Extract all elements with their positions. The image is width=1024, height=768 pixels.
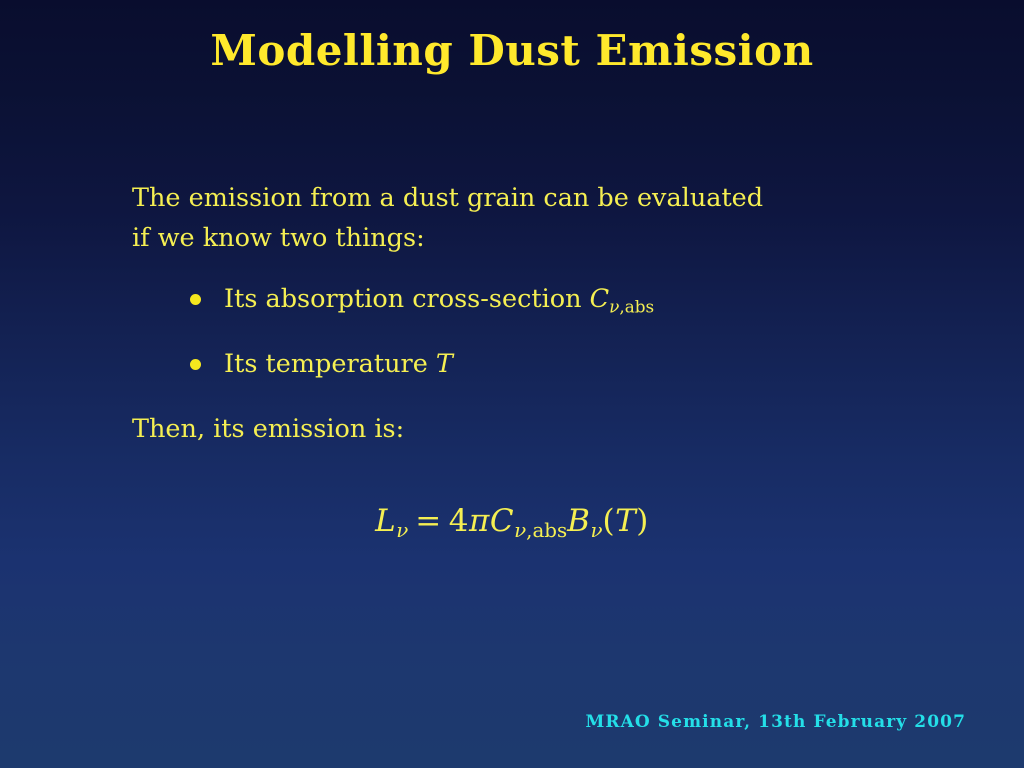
bullet-1-sub-roman: abs	[625, 296, 654, 316]
intro-line-2: if we know two things:	[132, 218, 922, 258]
eq-c-symbol: C	[490, 503, 514, 539]
list-item: Its absorption cross-section Cν,abs	[190, 284, 922, 321]
then-paragraph: Then, its emission is:	[132, 409, 922, 449]
presentation-slide: Modelling Dust Emission The emission fro…	[0, 0, 1024, 768]
intro-line-1: The emission from a dust grain can be ev…	[132, 178, 922, 218]
eq-lhs-sub: ν	[396, 519, 408, 542]
bullet-dot-icon	[190, 359, 201, 370]
bullet-list: Its absorption cross-section Cν,abs Its …	[132, 284, 922, 379]
bullet-2-symbol: T	[436, 349, 453, 379]
page-title: Modelling Dust Emission	[0, 28, 1024, 74]
eq-b-symbol: B	[567, 503, 590, 539]
bullet-1-sub-greek: ν	[609, 296, 619, 316]
bullet-2-text: Its temperature	[224, 349, 436, 379]
eq-equals: =	[408, 503, 448, 539]
slide-footer: MRAO Seminar, 13th February 2007	[0, 712, 1024, 732]
emission-equation: Lν=4πCν,absBν(T)	[0, 503, 1024, 542]
eq-b-sub: ν	[590, 519, 602, 542]
list-item: Its temperature T	[190, 349, 922, 379]
eq-t-symbol: T	[615, 503, 636, 539]
slide-body: The emission from a dust grain can be ev…	[132, 178, 922, 449]
eq-coefficient: 4	[449, 503, 469, 539]
eq-pi: π	[469, 503, 490, 539]
bullet-1-symbol: C	[590, 284, 610, 314]
bullet-dot-icon	[190, 294, 201, 305]
eq-c-sub-roman: abs	[532, 519, 567, 542]
eq-c-sub-greek: ν	[514, 519, 526, 542]
eq-paren-open: (	[603, 503, 616, 539]
eq-lhs-symbol: L	[375, 503, 396, 539]
bullet-1-text: Its absorption cross-section	[224, 284, 590, 314]
intro-paragraph: The emission from a dust grain can be ev…	[132, 178, 922, 258]
eq-paren-close: )	[636, 503, 649, 539]
